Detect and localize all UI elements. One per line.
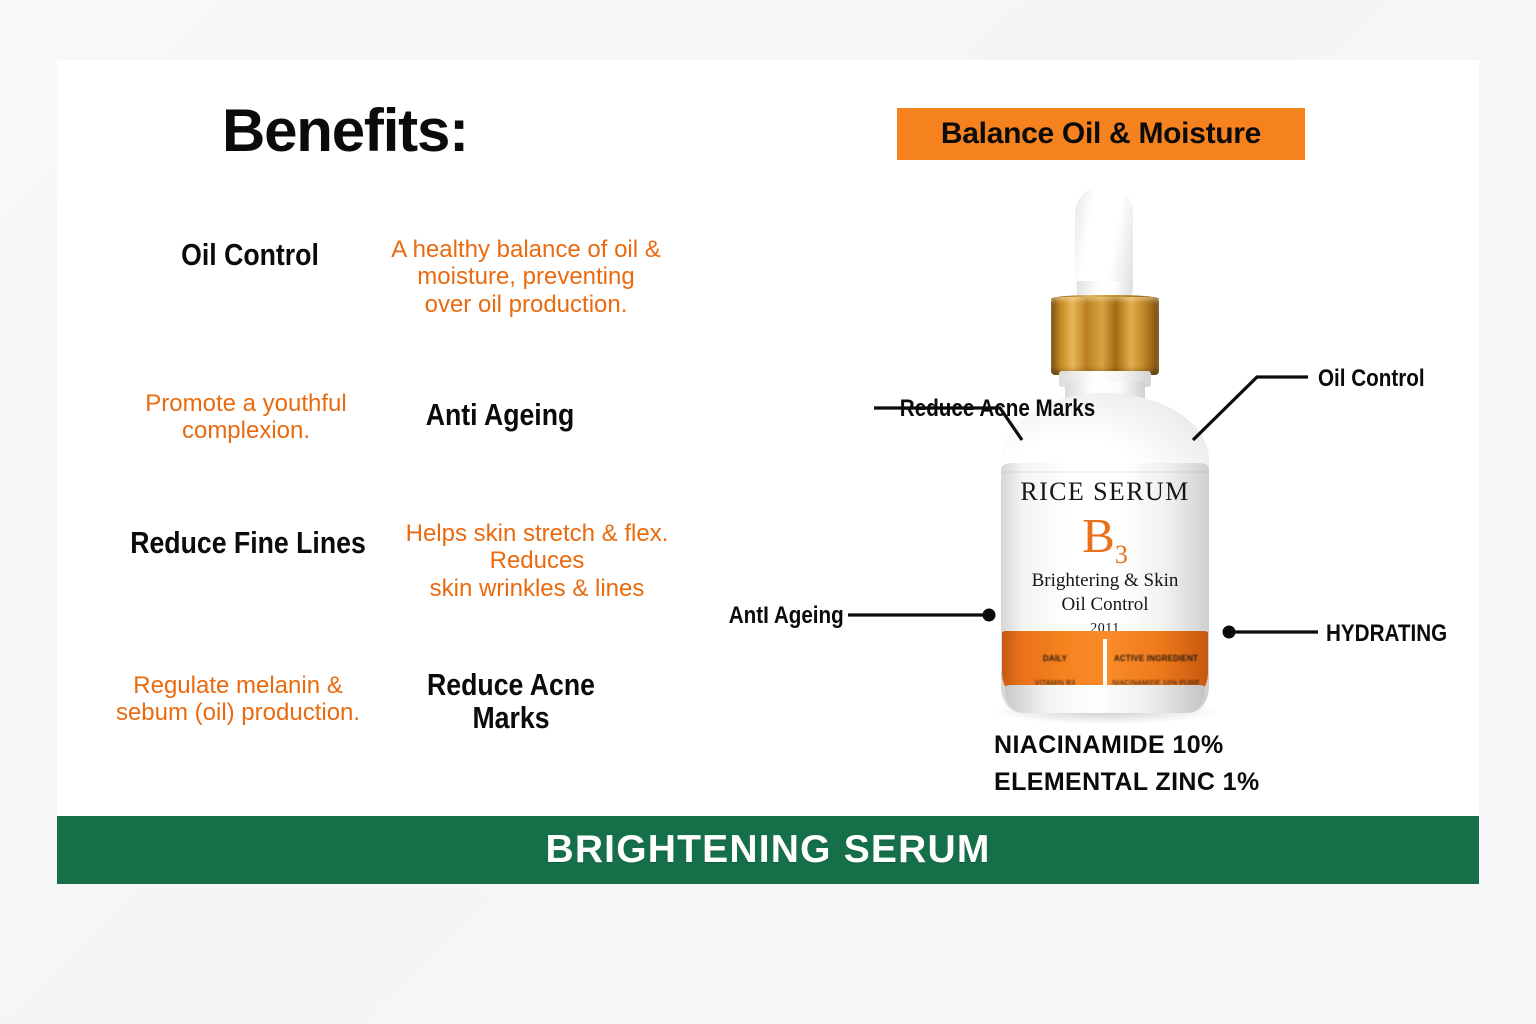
callout-reduce-acne-marks: Reduce Acne Marks bbox=[900, 395, 1095, 423]
callout-hydrating: HYDRATING bbox=[1326, 620, 1447, 648]
footer-label: BRIGHTENING SERUM bbox=[545, 828, 990, 872]
callout-anti-ageing: AntI Ageing bbox=[729, 602, 844, 630]
ingredient-zinc: ELEMENTAL ZINC 1% bbox=[994, 768, 1260, 797]
callout-oil-control: Oil Control bbox=[1318, 365, 1425, 393]
poster-canvas: Benefits: Oil Control A healthy balance … bbox=[0, 0, 1536, 1024]
footer-banner: BRIGHTENING SERUM bbox=[57, 816, 1479, 884]
ingredient-niacinamide: NIACINAMIDE 10% bbox=[994, 731, 1224, 760]
